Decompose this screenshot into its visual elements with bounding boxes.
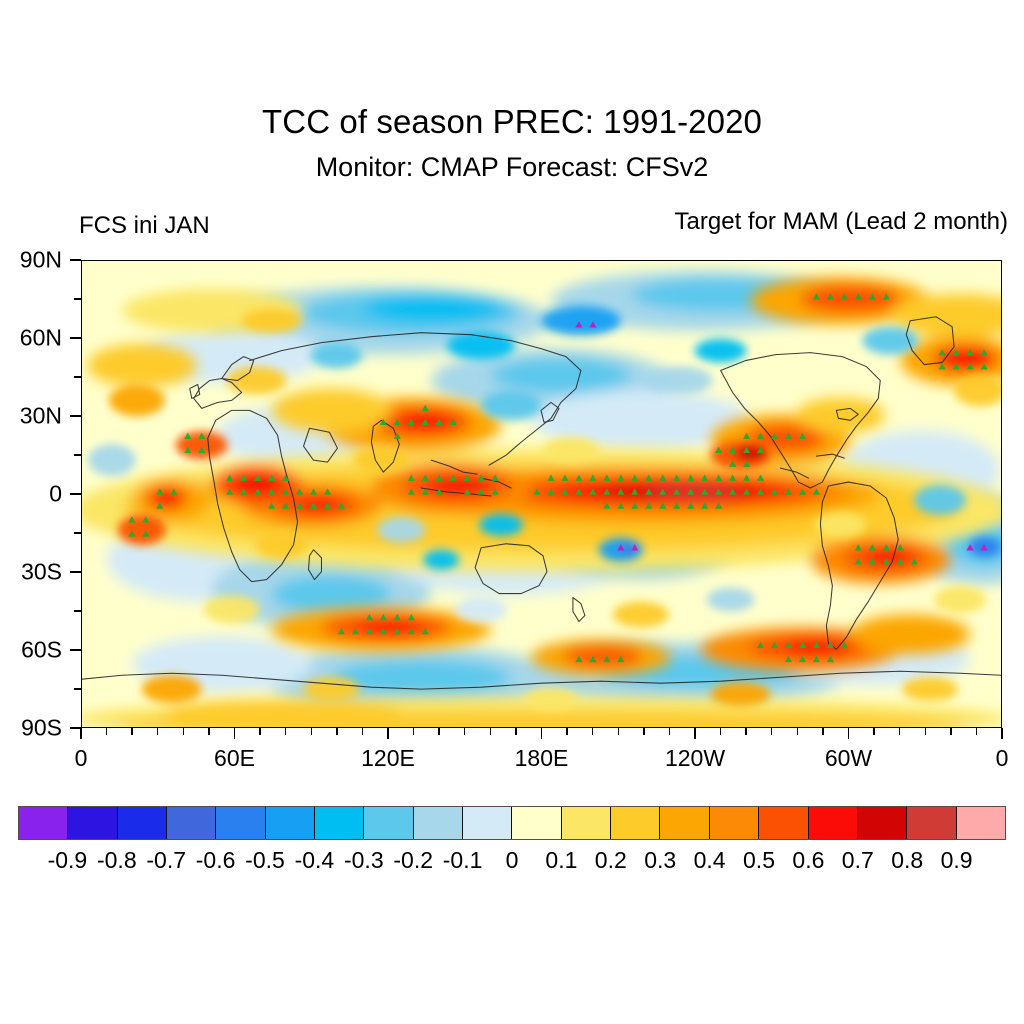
x-tick-minor xyxy=(362,728,363,735)
colorbar-swatch xyxy=(118,807,167,839)
x-tick-major xyxy=(387,728,389,739)
x-tick-minor xyxy=(183,728,184,735)
colorbar-swatch xyxy=(611,807,660,839)
colorbar-tick-label: -0.9 xyxy=(48,847,88,874)
y-tick-label: 60N xyxy=(20,325,62,352)
x-tick-minor xyxy=(771,728,772,735)
colorbar-tick-label: -0.4 xyxy=(295,847,335,874)
colorbar-swatch xyxy=(68,807,117,839)
y-tick-label: 0 xyxy=(49,481,62,508)
colorbar-swatch xyxy=(216,807,265,839)
colorbar-swatch xyxy=(858,807,907,839)
colorbar-swatch xyxy=(315,807,364,839)
colorbar-tick-label: 0.8 xyxy=(891,847,923,874)
x-tick-label: 60E xyxy=(214,745,255,772)
figure-canvas: TCC of season PREC: 1991-2020 Monitor: C… xyxy=(0,0,1024,1024)
colorbar-tick-label: 0.6 xyxy=(792,847,824,874)
colorbar-tick-label: 0.1 xyxy=(545,847,577,874)
colorbar-tick-label: 0.3 xyxy=(644,847,676,874)
x-tick-label: 0 xyxy=(75,745,88,772)
y-tick-label: 60S xyxy=(21,637,62,664)
map-field-svg xyxy=(82,261,1001,727)
colorbar-tick-label: 0.5 xyxy=(743,847,775,874)
x-tick-minor xyxy=(822,728,823,735)
colorbar-tick-label: 0.7 xyxy=(842,847,874,874)
y-tick-minor xyxy=(74,454,81,455)
x-tick-minor xyxy=(490,728,491,735)
x-tick-minor xyxy=(157,728,158,735)
x-tick-minor xyxy=(259,728,260,735)
y-tick-minor xyxy=(74,688,81,689)
x-tick-minor xyxy=(336,728,337,735)
colorbar-swatch xyxy=(463,807,512,839)
colorbar-swatch xyxy=(710,807,759,839)
y-tick-minor xyxy=(74,376,81,377)
colorbar-tick-label: 0.4 xyxy=(694,847,726,874)
x-tick-minor xyxy=(720,728,721,735)
colorbar-tick-label: 0 xyxy=(506,847,519,874)
colorbar-tick-label: -0.3 xyxy=(344,847,384,874)
x-tick-major xyxy=(848,728,850,739)
x-tick-minor xyxy=(797,728,798,735)
y-tick-major xyxy=(70,649,81,651)
forecast-init-note: FCS ini JAN xyxy=(79,212,210,240)
colorbar-tick-label: -0.5 xyxy=(245,847,285,874)
colorbar-swatch xyxy=(660,807,709,839)
colorbar-tick-label: 0.2 xyxy=(595,847,627,874)
x-tick-minor xyxy=(950,728,951,735)
x-tick-label: 0 xyxy=(996,745,1009,772)
target-lead-note: Target for MAM (Lead 2 month) xyxy=(675,208,1008,236)
colorbar-swatch xyxy=(759,807,808,839)
y-tick-label: 90N xyxy=(20,247,62,274)
colorbar-tick-label: -0.6 xyxy=(196,847,236,874)
page-title: TCC of season PREC: 1991-2020 xyxy=(0,103,1024,141)
x-tick-minor xyxy=(515,728,516,735)
x-tick-minor xyxy=(208,728,209,735)
colorbar xyxy=(18,806,1006,840)
y-tick-major xyxy=(70,571,81,573)
x-tick-major xyxy=(234,728,236,739)
x-tick-minor xyxy=(566,728,567,735)
colorbar-tick-label: 0.9 xyxy=(941,847,973,874)
x-tick-minor xyxy=(925,728,926,735)
colorbar-tick-label: -0.7 xyxy=(146,847,186,874)
x-tick-minor xyxy=(131,728,132,735)
colorbar-tick-label: -0.2 xyxy=(393,847,433,874)
x-tick-label: 180E xyxy=(515,745,569,772)
y-tick-label: 30S xyxy=(21,559,62,586)
y-tick-label: 30N xyxy=(20,403,62,430)
subtitle: Monitor: CMAP Forecast: CFSv2 xyxy=(0,152,1024,183)
x-tick-minor xyxy=(285,728,286,735)
x-tick-minor xyxy=(873,728,874,735)
colorbar-swatch xyxy=(562,807,611,839)
x-tick-minor xyxy=(413,728,414,735)
y-tick-minor xyxy=(74,532,81,533)
x-tick-minor xyxy=(976,728,977,735)
colorbar-swatch xyxy=(512,807,561,839)
colorbar-swatch xyxy=(364,807,413,839)
x-tick-label: 120W xyxy=(665,745,725,772)
colorbar-swatch xyxy=(167,807,216,839)
x-tick-major xyxy=(694,728,696,739)
y-tick-minor xyxy=(74,610,81,611)
x-tick-minor xyxy=(669,728,670,735)
y-tick-major xyxy=(70,337,81,339)
x-tick-minor xyxy=(745,728,746,735)
x-tick-minor xyxy=(899,728,900,735)
y-tick-minor xyxy=(74,298,81,299)
y-tick-major xyxy=(70,493,81,495)
colorbar-swatch xyxy=(957,807,1005,839)
colorbar-swatch xyxy=(414,807,463,839)
map-plot-area xyxy=(81,260,1002,728)
y-tick-major xyxy=(70,415,81,417)
y-tick-label: 90S xyxy=(21,715,62,742)
x-tick-minor xyxy=(438,728,439,735)
x-tick-minor xyxy=(311,728,312,735)
colorbar-swatch xyxy=(19,807,68,839)
colorbar-swatch xyxy=(266,807,315,839)
x-tick-label: 120E xyxy=(361,745,415,772)
x-tick-minor xyxy=(592,728,593,735)
x-tick-major xyxy=(80,728,82,739)
x-tick-major xyxy=(541,728,543,739)
colorbar-swatch xyxy=(809,807,858,839)
x-tick-minor xyxy=(643,728,644,735)
colorbar-tick-label: -0.8 xyxy=(97,847,137,874)
x-tick-minor xyxy=(464,728,465,735)
colorbar-tick-label: -0.1 xyxy=(443,847,483,874)
x-tick-major xyxy=(1001,728,1003,739)
y-tick-major xyxy=(70,259,81,261)
x-tick-minor xyxy=(106,728,107,735)
colorbar-swatch xyxy=(907,807,956,839)
x-tick-minor xyxy=(618,728,619,735)
x-tick-label: 60W xyxy=(825,745,872,772)
